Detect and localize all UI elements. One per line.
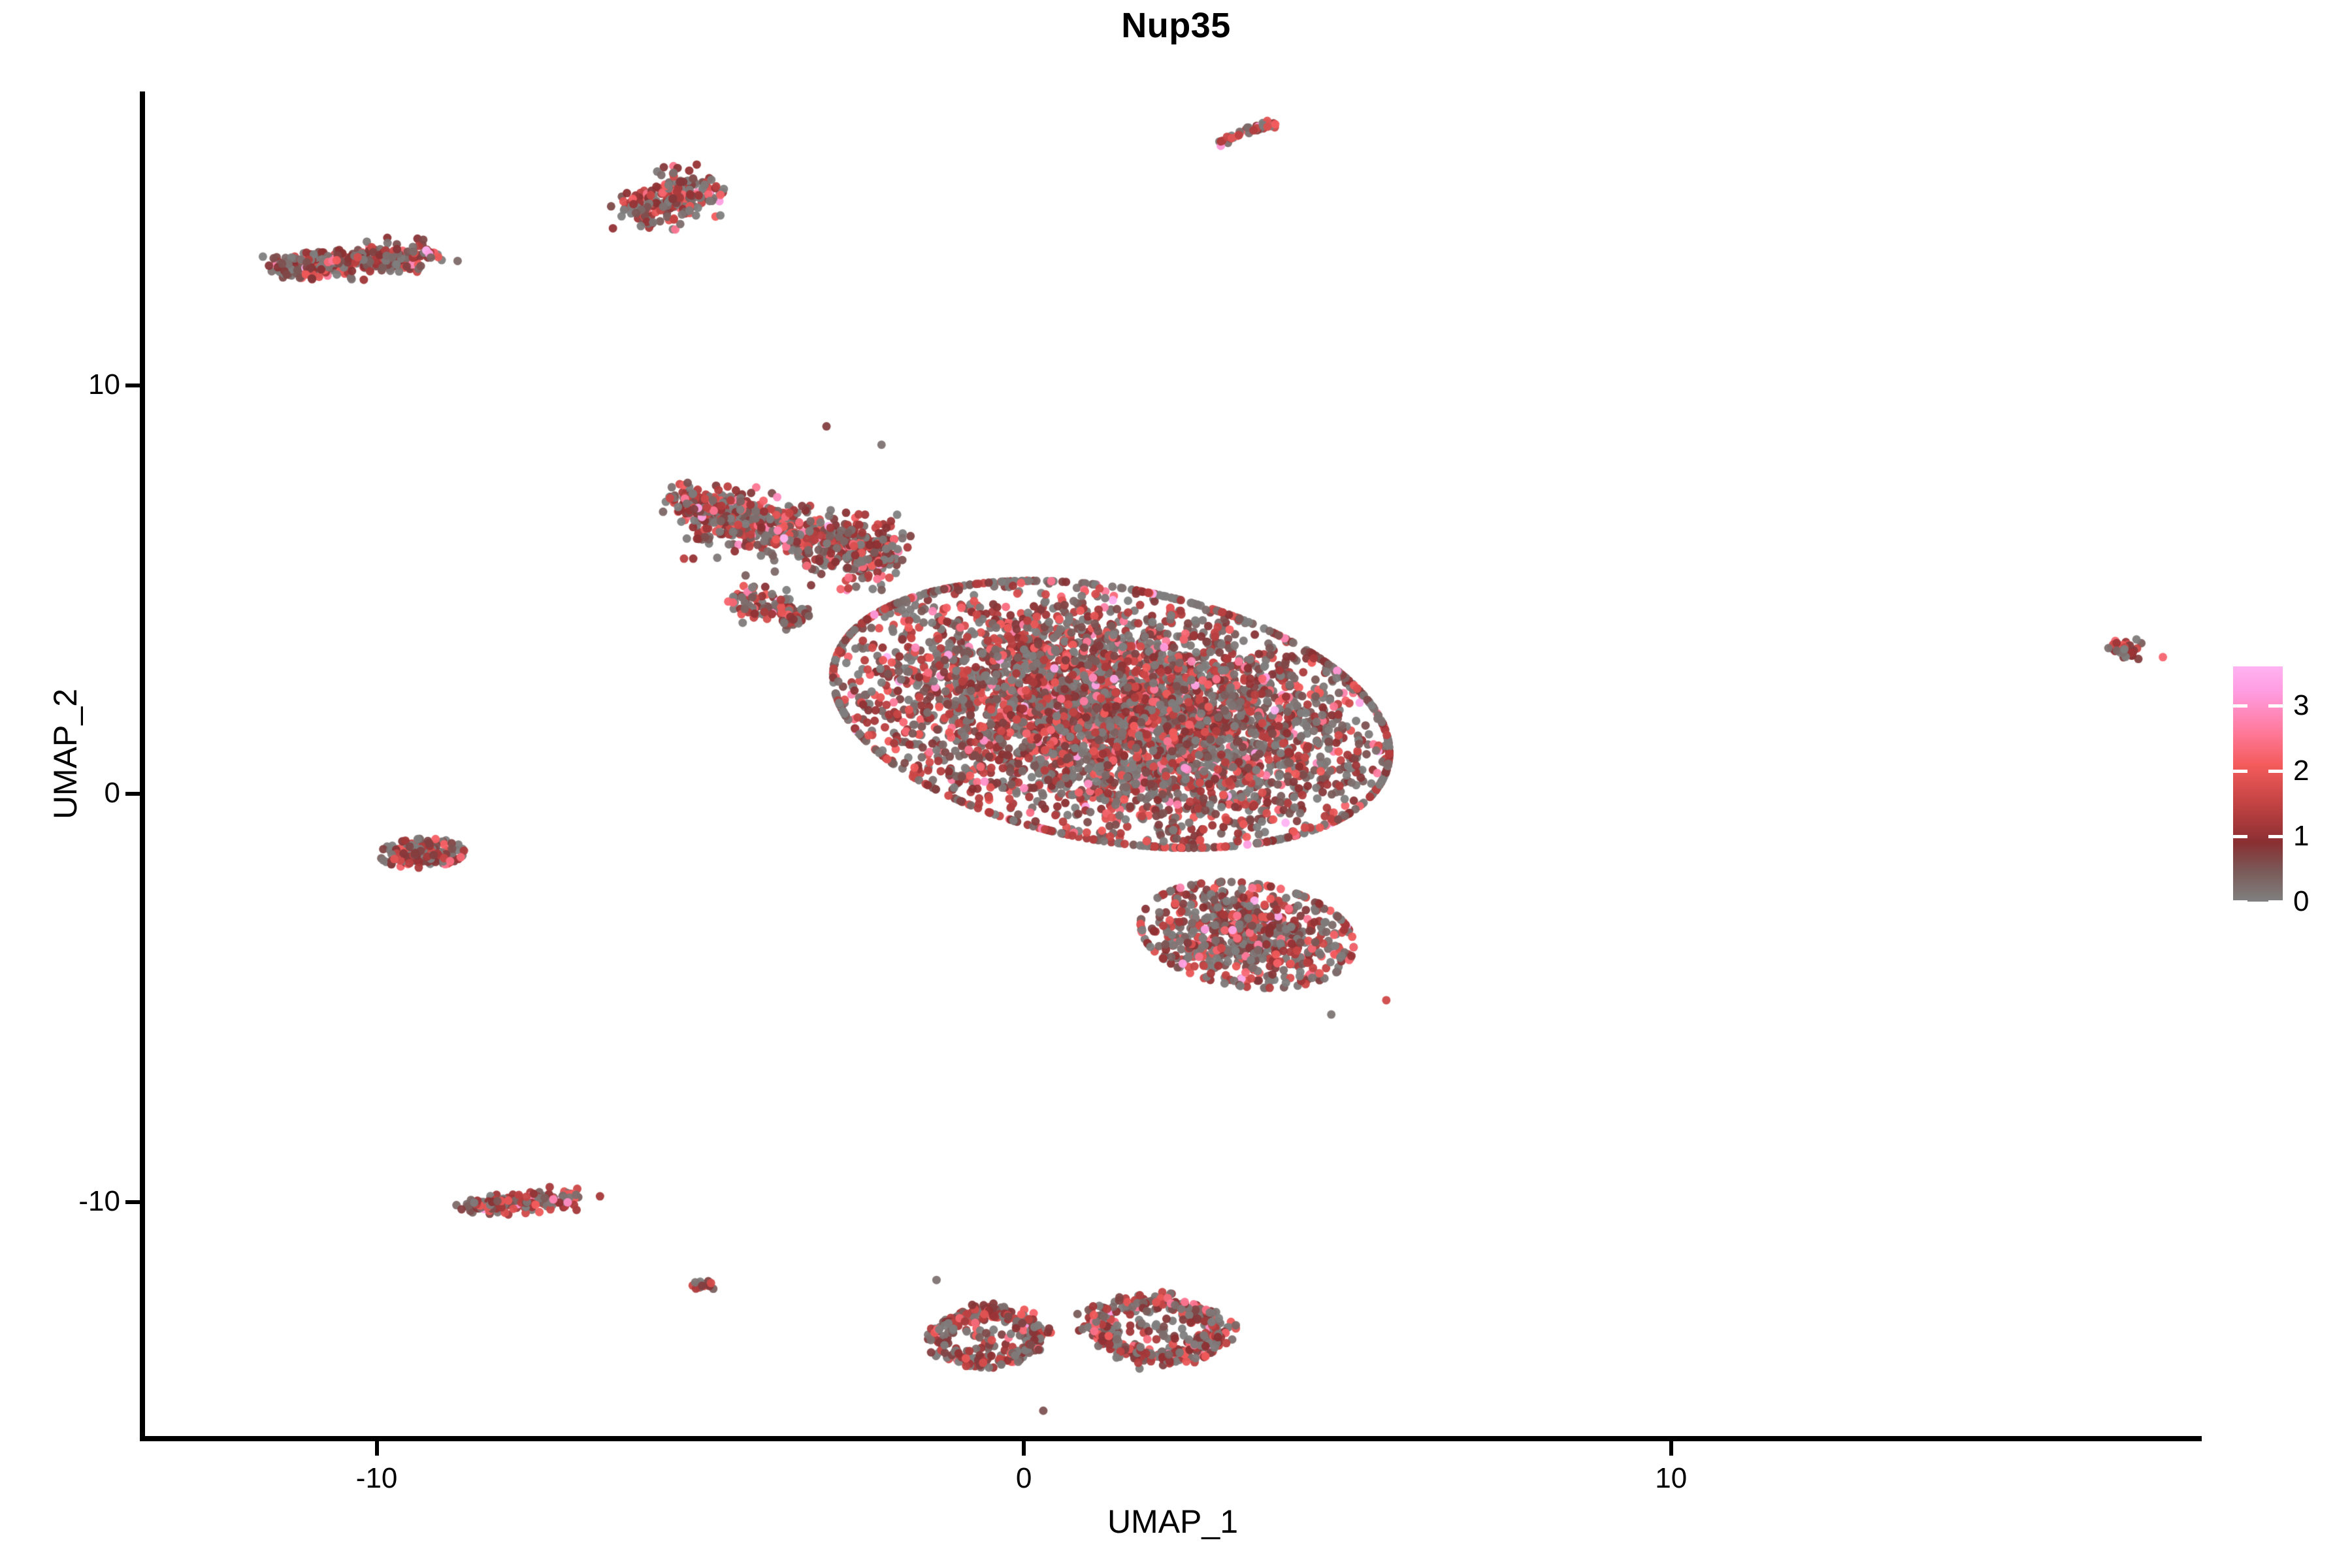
x-tick	[375, 1441, 379, 1456]
x-tick	[1022, 1441, 1026, 1456]
y-tick	[125, 384, 140, 387]
y-tick-label: -10	[78, 1185, 120, 1218]
colorbar-gradient	[2233, 666, 2283, 902]
y-axis-line	[140, 91, 145, 1441]
x-tick-label: 0	[958, 1462, 1089, 1495]
colorbar-tick	[2233, 835, 2247, 838]
y-tick	[125, 1200, 140, 1204]
feature-plot-root: Nup35 100-10-10010 UMAP_1 UMAP_2 3210	[0, 0, 2352, 1568]
x-tick-label: -10	[312, 1462, 442, 1495]
colorbar-tick	[2268, 835, 2283, 838]
x-axis-title: UMAP_1	[144, 1503, 2202, 1541]
colorbar-tick-label: 0	[2293, 887, 2309, 916]
x-tick	[1669, 1441, 1673, 1456]
colorbar-tick	[2268, 704, 2283, 708]
colorbar-tick-label: 1	[2293, 822, 2309, 851]
page-title: Nup35	[0, 5, 2352, 46]
colorbar-legend: 3210	[2233, 666, 2344, 902]
colorbar-tick	[2233, 900, 2247, 904]
scatter-plot-canvas	[144, 91, 2202, 1439]
colorbar-tick	[2233, 770, 2247, 773]
colorbar-tick-label: 2	[2293, 757, 2309, 785]
plot-panel	[144, 91, 2202, 1439]
colorbar-tick	[2268, 770, 2283, 773]
colorbar-tick	[2233, 704, 2247, 708]
y-axis-title: UMAP_2	[46, 525, 84, 983]
colorbar-tick	[2268, 900, 2283, 904]
y-tick-label: 10	[88, 368, 120, 401]
x-axis-line	[140, 1436, 2202, 1441]
y-tick	[125, 792, 140, 796]
colorbar-tick-label: 3	[2293, 691, 2309, 720]
x-tick-label: 10	[1606, 1462, 1737, 1495]
y-tick-label: 0	[105, 777, 120, 809]
